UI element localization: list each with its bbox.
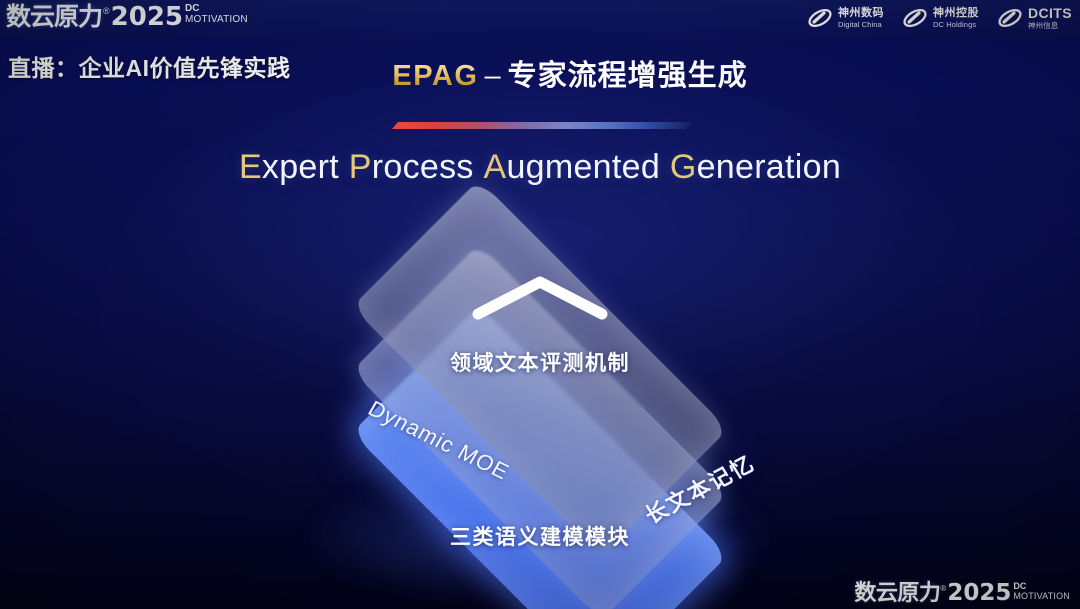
watermark-year: 2025	[947, 581, 1011, 605]
stack-label-top: 领域文本评测机制	[450, 347, 630, 377]
title-dash: –	[484, 60, 501, 92]
watermark-registered-icon: ®	[940, 583, 946, 594]
subtitle-cap-e: E	[239, 148, 262, 186]
brand-motivation-label: MOTIVATION	[185, 14, 248, 25]
watermark-motivation-label: MOTIVATION	[1013, 591, 1070, 601]
partner-name-cn: 神州控股	[933, 8, 979, 19]
swirl-icon	[997, 7, 1023, 29]
registered-mark-icon: ®	[103, 5, 110, 17]
partner-name-en-primary: DCITS	[1028, 6, 1072, 20]
subtitle-word-generation: eneration	[697, 148, 841, 186]
page-title: EPAG–专家流程增强生成	[0, 52, 1080, 94]
subtitle-word-augmented: ugmented	[506, 148, 660, 186]
watermark-dc-label: DC	[1013, 582, 1070, 591]
title-chinese: 专家流程增强生成	[508, 60, 748, 92]
partner-name-cn-secondary: 神州信息	[1028, 22, 1072, 30]
partner-logo-dc-holdings: 神州控股 DC Holdings	[902, 7, 979, 29]
footer-watermark-logo: 数云原力 ® 2025 DC MOTIVATION	[854, 581, 1070, 605]
stack-label-bottom: 三类语义建模模块	[450, 521, 630, 551]
subtitle-word-expert: xpert	[262, 148, 339, 186]
brand-year: 2025	[111, 3, 183, 31]
swirl-icon	[902, 7, 928, 29]
brand-dc-label: DC	[185, 4, 248, 14]
subtitle-english: Expert Process Augmented Generation	[0, 148, 1080, 187]
brand-dc-motivation: DC MOTIVATION	[185, 4, 248, 25]
gradient-divider	[392, 122, 692, 129]
header-band: 数云原力 ® 2025 DC MOTIVATION 神州数码 Digital C…	[0, 0, 1080, 40]
partner-name-en: DC Holdings	[933, 21, 979, 29]
partner-logo-dcits: DCITS 神州信息	[997, 6, 1072, 30]
subtitle-cap-g: G	[670, 148, 697, 186]
partner-name-cn: 神州数码	[838, 8, 884, 19]
swirl-icon	[807, 7, 833, 29]
layered-stack-diagram: 领域文本评测机制 Dynamic MOE 长文本记忆 三类语义建模模块	[272, 222, 808, 578]
chevron-up-icon	[472, 274, 608, 320]
subtitle-cap-p: P	[349, 148, 372, 186]
subtitle-cap-a: A	[483, 148, 506, 186]
brand-name-cn: 数云原力	[6, 3, 102, 31]
partner-name-en: Digital China	[838, 21, 884, 29]
watermark-name-cn: 数云原力	[854, 581, 940, 605]
partner-logo-group: 神州数码 Digital China 神州控股 DC Holdings	[807, 6, 1072, 30]
brand-logo: 数云原力 ® 2025 DC MOTIVATION	[6, 3, 248, 31]
partner-logo-digital-china: 神州数码 Digital China	[807, 7, 884, 29]
slide-canvas: 数云原力 ® 2025 DC MOTIVATION 神州数码 Digital C…	[0, 0, 1080, 609]
subtitle-word-process: rocess	[372, 148, 474, 186]
title-acronym: EPAG	[392, 60, 478, 92]
